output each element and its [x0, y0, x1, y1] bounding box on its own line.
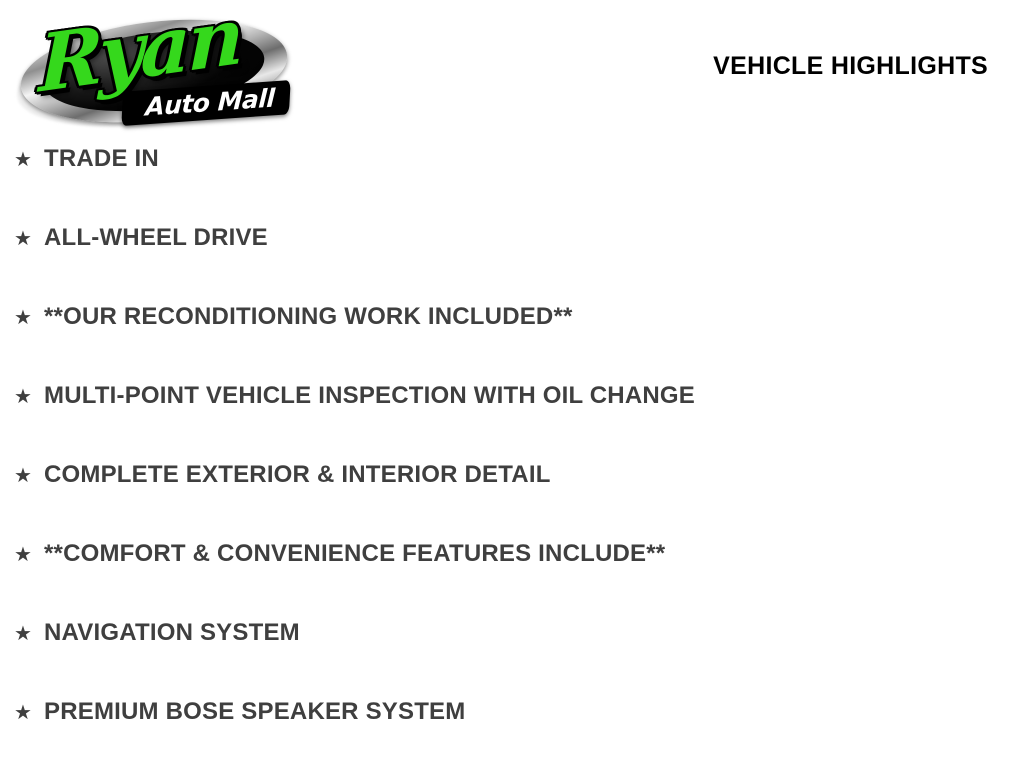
- vehicle-highlights-list: ★TRADE IN★ALL-WHEEL DRIVE★**OUR RECONDIT…: [0, 146, 1024, 778]
- star-icon: ★: [14, 699, 44, 725]
- list-item: ★**OUR RECONDITIONING WORK INCLUDED**: [0, 304, 1024, 383]
- list-item: ★**COMFORT & CONVENIENCE FEATURES INCLUD…: [0, 541, 1024, 620]
- highlight-item-label: **COMFORT & CONVENIENCE FEATURES INCLUDE…: [44, 541, 665, 567]
- list-item: ★MULTI-POINT VEHICLE INSPECTION WITH OIL…: [0, 383, 1024, 462]
- list-item: ★TRADE IN: [0, 146, 1024, 225]
- highlight-item-label: TRADE IN: [44, 146, 159, 172]
- star-icon: ★: [14, 225, 44, 251]
- dealer-logo[interactable]: Ryan Auto Mall: [12, 8, 302, 128]
- star-icon: ★: [14, 383, 44, 409]
- list-item: ★ALL-WHEEL DRIVE: [0, 225, 1024, 304]
- star-icon: ★: [14, 462, 44, 488]
- page-title: VEHICLE HIGHLIGHTS: [713, 52, 988, 80]
- star-icon: ★: [14, 541, 44, 567]
- list-item: ★NAVIGATION SYSTEM: [0, 620, 1024, 699]
- highlight-item-label: NAVIGATION SYSTEM: [44, 620, 300, 646]
- highlight-item-label: **OUR RECONDITIONING WORK INCLUDED**: [44, 304, 573, 330]
- highlight-item-label: ALL-WHEEL DRIVE: [44, 225, 268, 251]
- highlight-item-label: COMPLETE EXTERIOR & INTERIOR DETAIL: [44, 462, 551, 488]
- star-icon: ★: [14, 620, 44, 646]
- star-icon: ★: [14, 146, 44, 172]
- list-item: ★PREMIUM BOSE SPEAKER SYSTEM: [0, 699, 1024, 778]
- highlight-item-label: MULTI-POINT VEHICLE INSPECTION WITH OIL …: [44, 383, 695, 409]
- list-item: ★COMPLETE EXTERIOR & INTERIOR DETAIL: [0, 462, 1024, 541]
- page-header: Ryan Auto Mall VEHICLE HIGHLIGHTS: [0, 0, 1024, 140]
- star-icon: ★: [14, 304, 44, 330]
- highlight-item-label: PREMIUM BOSE SPEAKER SYSTEM: [44, 699, 465, 725]
